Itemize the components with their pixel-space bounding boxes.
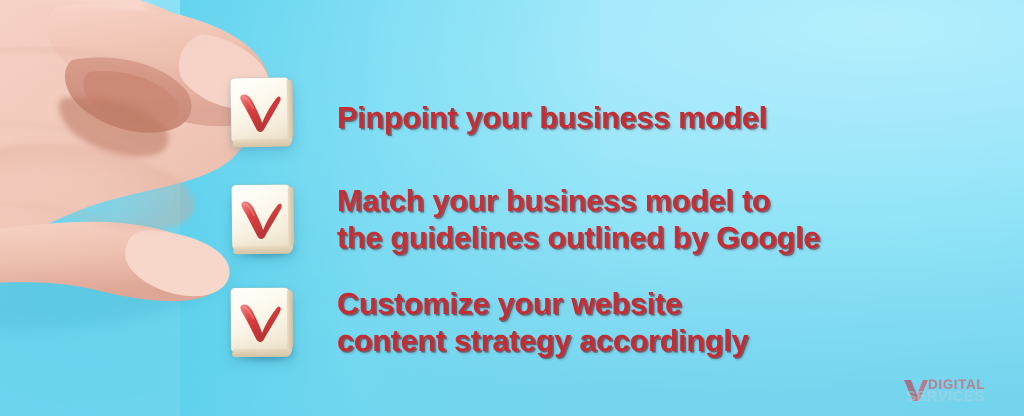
background-vignette (0, 0, 1024, 416)
infographic-canvas: Pinpoint your business model Match your … (0, 0, 1024, 416)
